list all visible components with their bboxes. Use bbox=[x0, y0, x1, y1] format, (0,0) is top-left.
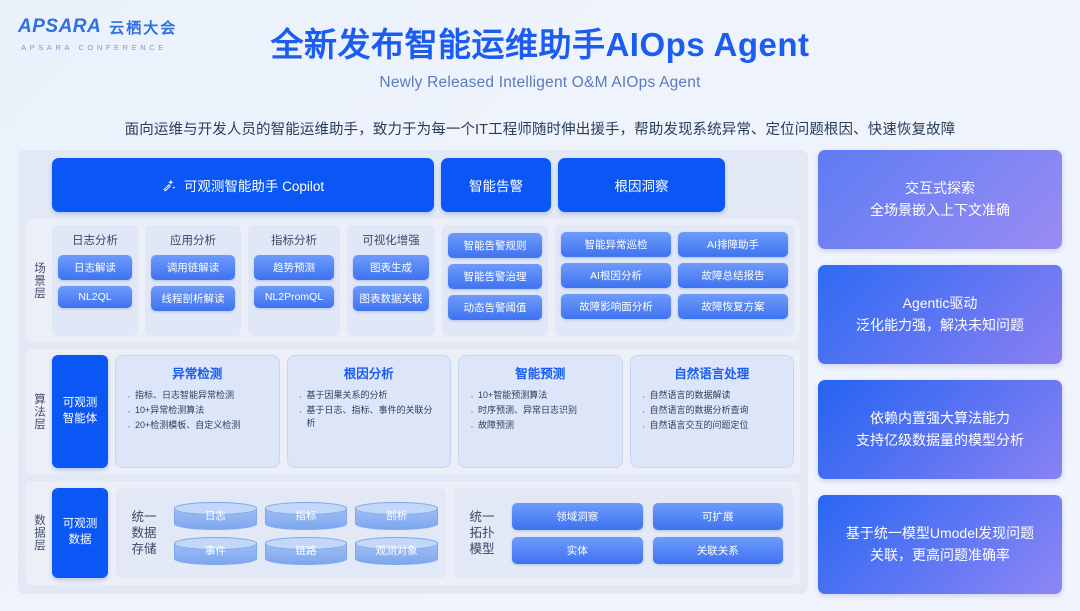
algo-card-title: 异常检测 bbox=[125, 363, 270, 382]
scene-chip[interactable]: 故障恢复方案 bbox=[678, 294, 788, 319]
cylinder-label: 剖析 bbox=[386, 508, 407, 523]
cylinder-label: 指标 bbox=[295, 508, 316, 523]
highlight-card-algorithm-capability[interactable]: 依赖内置强大算法能力支持亿级数据量的模型分析 bbox=[818, 380, 1062, 479]
list-item: 自然语言的数据分析查询 bbox=[640, 404, 785, 417]
scene-group-metric: 指标分析 趋势预测 NL2PromQL bbox=[248, 225, 340, 336]
root-cause-col-2: AI排障助手 故障总结报告 故障恢复方案 bbox=[678, 232, 788, 319]
scene-chip[interactable]: NL2PromQL bbox=[254, 286, 334, 308]
list-item: 故障预测 bbox=[468, 419, 613, 432]
cylinder-label: 事件 bbox=[205, 543, 226, 558]
alert-button[interactable]: 智能告警 bbox=[441, 158, 551, 212]
topology-chip[interactable]: 实体 bbox=[512, 537, 643, 564]
scene-chip[interactable]: 日志解读 bbox=[58, 255, 132, 280]
scene-group-log: 日志分析 日志解读 NL2QL bbox=[52, 225, 138, 336]
scene-chip[interactable]: 线程剖析解读 bbox=[151, 286, 235, 311]
highlight-card-text: 依赖内置强大算法能力支持亿级数据量的模型分析 bbox=[856, 408, 1024, 451]
title-block: 全新发布智能运维助手AIOps Agent Newly Released Int… bbox=[0, 24, 1080, 92]
group-title: 指标分析 bbox=[271, 232, 317, 248]
scene-layer-content: 日志分析 日志解读 NL2QL 应用分析 调用链解读 线程剖析解读 指标分析 趋… bbox=[52, 219, 800, 342]
unified-topology-label: 统一 拓扑 模型 bbox=[464, 509, 500, 558]
cylinder-label: 日志 bbox=[205, 508, 226, 523]
copilot-button[interactable]: 可观测智能助手 Copilot bbox=[52, 158, 434, 212]
data-layer-label: 数据层 bbox=[26, 481, 52, 585]
algorithm-layer-content: 可观测智能体 异常检测 指标、日志智能异常检测 10+异常检测算法 20+检测模… bbox=[52, 349, 800, 474]
highlight-card-umodel[interactable]: 基于统一模型Umodel发现问题关联，更高问题准确率 bbox=[818, 495, 1062, 594]
root-cause-chip-grid: 智能异常巡检 AI根因分析 故障影响面分析 AI排障助手 故障总结报告 故障恢复… bbox=[561, 232, 788, 319]
copilot-label: 可观测智能助手 Copilot bbox=[184, 175, 324, 195]
root-cause-col-1: 智能异常巡检 AI根因分析 故障影响面分析 bbox=[561, 232, 671, 319]
list-item: 基于日志、指标、事件的关联分析 bbox=[297, 404, 442, 430]
group-title: 可视化增强 bbox=[362, 232, 420, 248]
database-cylinder-icon[interactable]: 指标 bbox=[265, 502, 348, 530]
unified-data-storage: 统一 数据 存储 日志 指标 剖析 事件 链路 观测对象 bbox=[116, 488, 446, 578]
magic-wand-icon bbox=[162, 178, 177, 193]
scene-chip[interactable]: 趋势预测 bbox=[254, 255, 334, 280]
observable-data-box[interactable]: 可观测数据 bbox=[52, 488, 108, 578]
algo-card-root-cause-analysis: 根因分析 基于因果关系的分析 基于日志、指标、事件的关联分析 bbox=[287, 355, 452, 468]
architecture-panel: 可观测智能助手 Copilot 智能告警 根因洞察 场景层 日志分析 日志解读 … bbox=[18, 150, 808, 594]
list-item: 10+智能预测算法 bbox=[468, 389, 613, 402]
list-item: 自然语言交互的问题定位 bbox=[640, 419, 785, 432]
list-item: 指标、日志智能异常检测 bbox=[125, 389, 270, 402]
algorithm-layer-label: 算法层 bbox=[26, 349, 52, 474]
scene-group-app: 应用分析 调用链解读 线程剖析解读 bbox=[145, 225, 241, 336]
observable-agent-label: 可观测智能体 bbox=[63, 396, 98, 427]
list-item: 20+检测模板、自定义检测 bbox=[125, 419, 270, 432]
scene-chip[interactable]: 故障总结报告 bbox=[678, 263, 788, 288]
scene-group-visualization: 可视化增强 图表生成 图表数据关联 bbox=[347, 225, 435, 336]
scene-chip[interactable]: 调用链解读 bbox=[151, 255, 235, 280]
database-cylinder-icon[interactable]: 日志 bbox=[174, 502, 257, 530]
database-cylinder-icon[interactable]: 事件 bbox=[174, 537, 257, 565]
scene-chip[interactable]: 智能告警规则 bbox=[448, 233, 542, 258]
unified-storage-label: 统一 数据 存储 bbox=[124, 509, 164, 558]
list-item: 时序预测、异常日志识别 bbox=[468, 404, 613, 417]
group-title: 日志分析 bbox=[72, 232, 118, 248]
list-item: 10+异常检测算法 bbox=[125, 404, 270, 417]
algorithm-layer: 算法层 可观测智能体 异常检测 指标、日志智能异常检测 10+异常检测算法 20… bbox=[26, 349, 800, 474]
algo-card-list: 指标、日志智能异常检测 10+异常检测算法 20+检测模板、自定义检测 bbox=[125, 389, 270, 432]
storage-cylinder-grid: 日志 指标 剖析 事件 链路 观测对象 bbox=[174, 502, 438, 565]
topology-chip[interactable]: 领域洞察 bbox=[512, 503, 643, 530]
scene-chip[interactable]: AI排障助手 bbox=[678, 232, 788, 257]
algo-card-list: 基于因果关系的分析 基于日志、指标、事件的关联分析 bbox=[297, 389, 442, 430]
cylinder-label: 观测对象 bbox=[376, 543, 418, 558]
database-cylinder-icon[interactable]: 观测对象 bbox=[355, 537, 438, 565]
highlight-card-text: 交互式探索全场景嵌入上下文准确 bbox=[870, 178, 1010, 221]
algo-card-title: 智能预测 bbox=[468, 363, 613, 382]
database-cylinder-icon[interactable]: 链路 bbox=[265, 537, 348, 565]
scene-chip[interactable]: NL2QL bbox=[58, 286, 132, 308]
highlight-card-agentic-driven[interactable]: Agentic驱动泛化能力强，解决未知问题 bbox=[818, 265, 1062, 364]
highlight-cards: 交互式探索全场景嵌入上下文准确 Agentic驱动泛化能力强，解决未知问题 依赖… bbox=[818, 150, 1062, 594]
scene-layer-label: 场景层 bbox=[26, 219, 52, 342]
group-title: 应用分析 bbox=[170, 232, 216, 248]
scene-chip[interactable]: 智能告警治理 bbox=[448, 264, 542, 289]
scene-chip[interactable]: 故障影响面分析 bbox=[561, 294, 671, 319]
topology-chip-grid: 领域洞察 可扩展 实体 关联关系 bbox=[512, 503, 783, 564]
topology-chip[interactable]: 可扩展 bbox=[653, 503, 784, 530]
algo-card-nlp: 自然语言处理 自然语言的数据解读 自然语言的数据分析查询 自然语言交互的问题定位 bbox=[630, 355, 795, 468]
scene-chip[interactable]: AI根因分析 bbox=[561, 263, 671, 288]
algo-card-title: 根因分析 bbox=[297, 363, 442, 382]
page-title: 全新发布智能运维助手AIOps Agent bbox=[0, 24, 1080, 65]
lead-paragraph: 面向运维与开发人员的智能运维助手，致力于为每一个IT工程师随时伸出援手，帮助发现… bbox=[0, 118, 1080, 139]
highlight-card-text: Agentic驱动泛化能力强，解决未知问题 bbox=[856, 293, 1024, 336]
highlight-card-interactive-exploration[interactable]: 交互式探索全场景嵌入上下文准确 bbox=[818, 150, 1062, 249]
unified-topology-model: 统一 拓扑 模型 领域洞察 可扩展 实体 关联关系 bbox=[454, 488, 793, 578]
scene-chip[interactable]: 图表生成 bbox=[353, 255, 429, 280]
scene-chip[interactable]: 动态告警阈值 bbox=[448, 295, 542, 320]
observable-agent-box[interactable]: 可观测智能体 bbox=[52, 355, 108, 468]
database-cylinder-icon[interactable]: 剖析 bbox=[355, 502, 438, 530]
scene-chip[interactable]: 智能异常巡检 bbox=[561, 232, 671, 257]
algo-card-title: 自然语言处理 bbox=[640, 363, 785, 382]
list-item: 自然语言的数据解读 bbox=[640, 389, 785, 402]
algo-card-anomaly-detection: 异常检测 指标、日志智能异常检测 10+异常检测算法 20+检测模板、自定义检测 bbox=[115, 355, 280, 468]
list-item: 基于因果关系的分析 bbox=[297, 389, 442, 402]
highlight-card-text: 基于统一模型Umodel发现问题关联，更高问题准确率 bbox=[846, 523, 1034, 566]
topology-chip[interactable]: 关联关系 bbox=[653, 537, 784, 564]
algo-card-list: 自然语言的数据解读 自然语言的数据分析查询 自然语言交互的问题定位 bbox=[640, 389, 785, 432]
scene-chip[interactable]: 图表数据关联 bbox=[353, 286, 429, 311]
scene-group-alert: 智能告警规则 智能告警治理 动态告警阈值 bbox=[442, 225, 548, 336]
scene-layer: 场景层 日志分析 日志解读 NL2QL 应用分析 调用链解读 线程剖析解读 指标… bbox=[26, 219, 800, 342]
algo-card-list: 10+智能预测算法 时序预测、异常日志识别 故障预测 bbox=[468, 389, 613, 432]
page-subtitle: Newly Released Intelligent O&M AIOps Age… bbox=[0, 74, 1080, 92]
data-layer: 数据层 可观测数据 统一 数据 存储 日志 指标 剖析 事件 链路 bbox=[26, 481, 800, 585]
root-cause-button[interactable]: 根因洞察 bbox=[558, 158, 725, 212]
top-capability-row: 可观测智能助手 Copilot 智能告警 根因洞察 bbox=[26, 158, 800, 212]
data-layer-content: 可观测数据 统一 数据 存储 日志 指标 剖析 事件 链路 观测对象 bbox=[52, 481, 800, 585]
algo-card-intelligent-prediction: 智能预测 10+智能预测算法 时序预测、异常日志识别 故障预测 bbox=[458, 355, 623, 468]
scene-group-root-cause: 智能异常巡检 AI根因分析 故障影响面分析 AI排障助手 故障总结报告 故障恢复… bbox=[555, 225, 794, 336]
cylinder-label: 链路 bbox=[295, 543, 316, 558]
observable-data-label: 可观测数据 bbox=[63, 517, 98, 548]
